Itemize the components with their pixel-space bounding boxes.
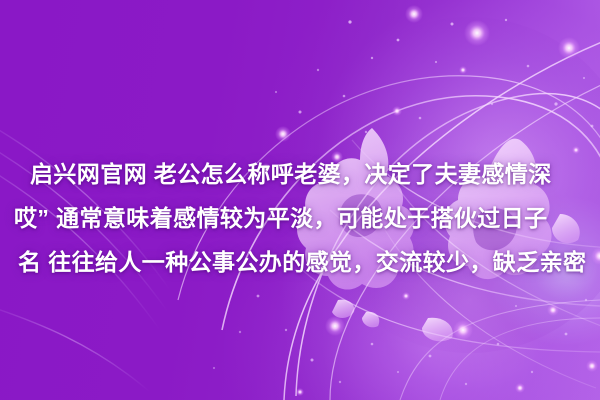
banner-image: 启兴网官网 老公怎么称呼老婆，决定了夫妻感情深 哎” 通常意味着感情较为平淡，可… — [0, 0, 600, 400]
headline-line-2: 哎” 通常意味着感情较为平淡，可能处于搭伙过日子 — [14, 196, 600, 240]
headline-line-3: 名 往往给人一种公事公办的感觉，交流较少，缺乏亲密 — [18, 240, 600, 284]
headline-line-1: 启兴网官网 老公怎么称呼老婆，决定了夫妻感情深 — [30, 152, 600, 196]
headline-block: 启兴网官网 老公怎么称呼老婆，决定了夫妻感情深 哎” 通常意味着感情较为平淡，可… — [30, 152, 600, 284]
